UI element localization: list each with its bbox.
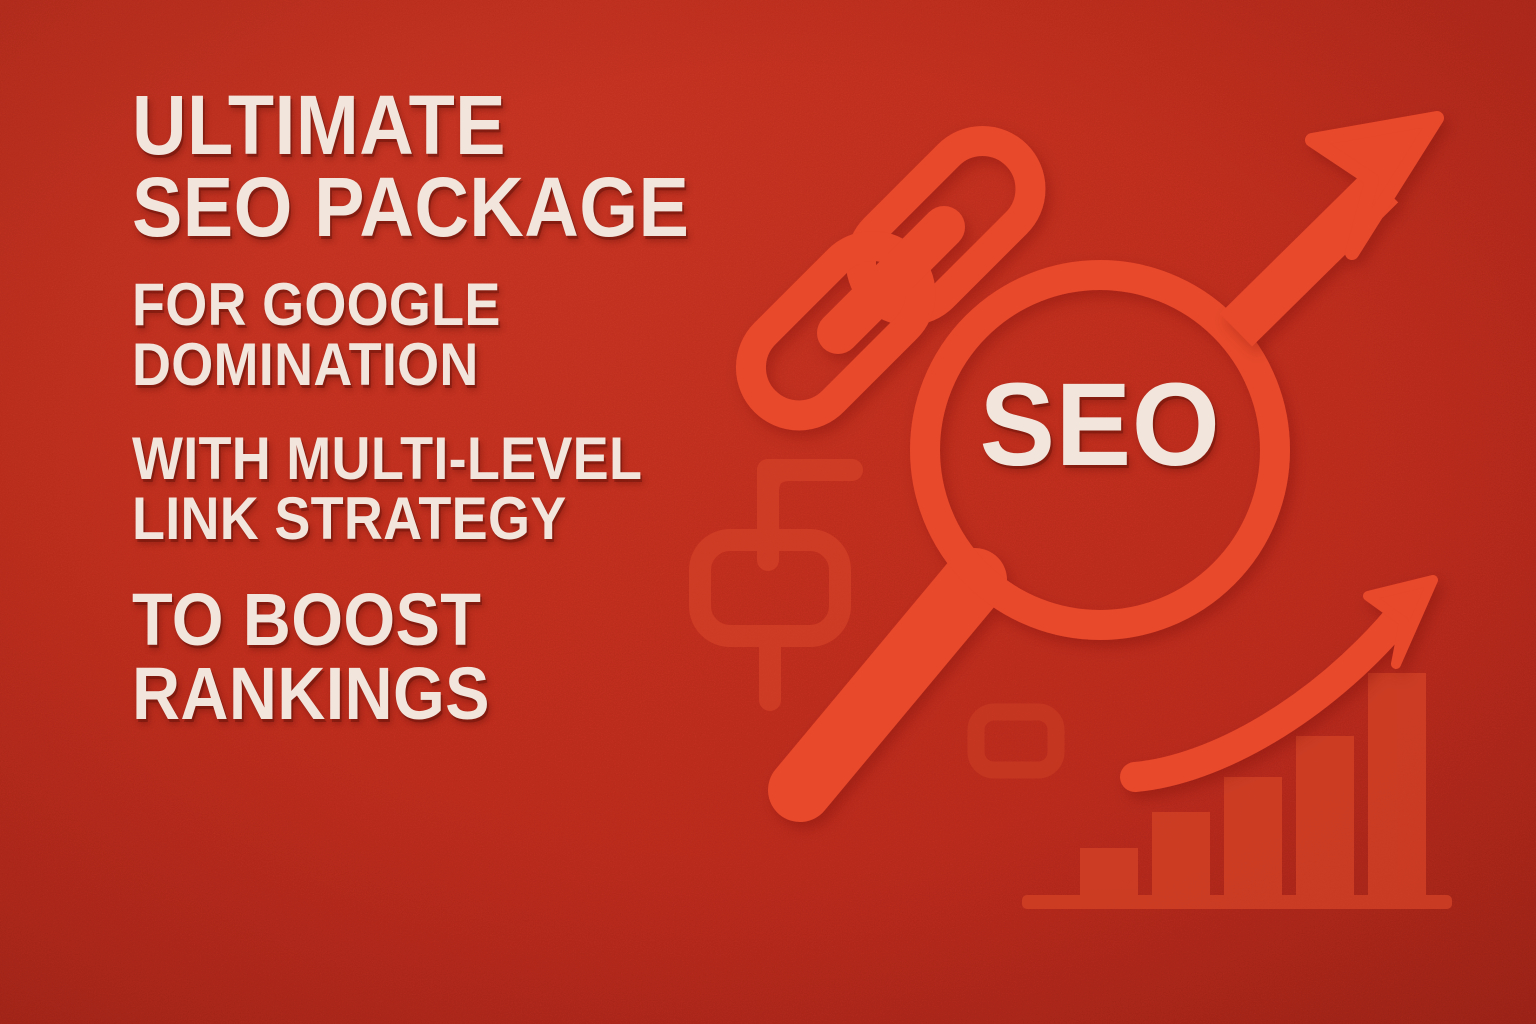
headline-line-1: ULTIMATE xyxy=(132,84,717,166)
seo-package-banner: SEO ULTIMATE SEO PACKAGE FOR GOOGLE DOMI… xyxy=(0,0,1536,1024)
headline-line-2: SEO PACKAGE xyxy=(132,166,717,248)
subhead-c-line-2: RANKINGS xyxy=(132,657,717,731)
subhead-c-group: TO BOOST RANKINGS xyxy=(132,583,782,731)
subhead-c-line-1: TO BOOST xyxy=(132,583,717,657)
subhead-a-line-2: DOMINATION xyxy=(132,335,717,395)
subhead-b-group: WITH MULTI-LEVEL LINK STRATEGY xyxy=(132,429,782,549)
lens-seo-label: SEO xyxy=(961,366,1239,484)
headline-group: ULTIMATE SEO PACKAGE xyxy=(132,84,782,249)
subhead-a-group: FOR GOOGLE DOMINATION xyxy=(132,275,782,395)
subhead-a-line-1: FOR GOOGLE xyxy=(132,275,717,335)
headline-copy-block: ULTIMATE SEO PACKAGE FOR GOOGLE DOMINATI… xyxy=(132,84,782,731)
subhead-b-line-1: WITH MULTI-LEVEL xyxy=(132,429,717,489)
subhead-b-line-2: LINK STRATEGY xyxy=(132,489,717,549)
